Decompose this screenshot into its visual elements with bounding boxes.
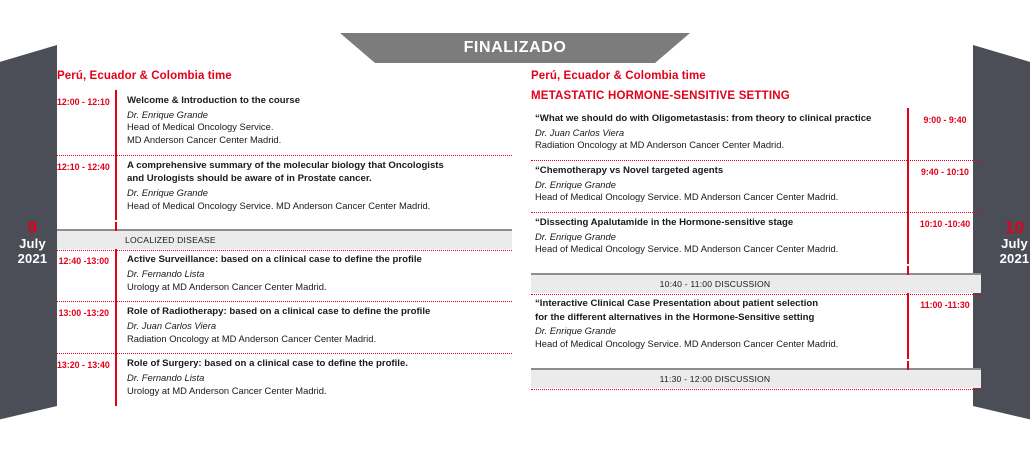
talk-title: Role of Radiotherapy: based on a clinica… [127,306,508,319]
schedule-row: “Dissecting Apalutamide in the Hormone-s… [531,212,981,264]
schedule-row-time: 12:00 - 12:10 [57,90,115,155]
status-banner: FINALIZADO [340,33,690,63]
schedule-row-time: 13:00 -13:20 [57,301,115,353]
schedule-row-content: Role of Radiotherapy: based on a clinica… [117,301,512,353]
talk-speaker: Dr. Juan Carlos Viera [535,127,899,140]
section-band: 11:30 - 12:00 DISCUSSION [531,368,981,388]
schedule-row-time: 9:40 - 10:10 [909,160,981,212]
agenda-page: 9 July 2021 10 July 2021 FINALIZADO Perú… [0,0,1030,450]
schedule-row-time: 12:10 - 12:40 [57,155,115,221]
schedule-row-content: “Dissecting Apalutamide in the Hormone-s… [531,212,907,264]
talk-speaker: Dr. Fernando Lista [127,268,508,281]
section-band: LOCALIZED DISEASE [57,229,512,249]
talk-speaker: Dr. Fernando Lista [127,372,508,385]
left-date-block: 9 July 2021 [0,0,57,450]
talk-affiliation: Urology at MD Anderson Cancer Center Mad… [127,281,508,294]
right-date-shape [973,0,1030,450]
schedule-row-content: “What we should do with Oligometastasis:… [531,108,907,160]
right-date-text: 10 July 2021 [987,218,1030,266]
talk-title: “What we should do with Oligometastasis:… [535,113,899,126]
day-1-schedule: 12:00 - 12:10Welcome & Introduction to t… [57,90,512,406]
status-banner-label: FINALIZADO [340,33,690,63]
talk-speaker: Dr. Enrique Grande [127,187,508,200]
schedule-row: “What we should do with Oligometastasis:… [531,108,981,160]
band-red-tick [907,361,909,370]
talk-title: Role of Surgery: based on a clinical cas… [127,358,508,371]
schedule-row: “Interactive Clinical Case Presentation … [531,293,981,359]
talk-title: “Interactive Clinical Case Presentation … [535,298,899,311]
talk-affiliation: Head of Medical Oncology Service. MD And… [127,200,508,213]
schedule-row-time: 9:00 - 9:40 [909,108,981,160]
right-date-month: July [987,237,1030,252]
day-2-schedule: “What we should do with Oligometastasis:… [531,108,981,388]
talk-speaker: Dr. Enrique Grande [535,231,899,244]
schedule-row: “Chemotherapy vs Novel targeted agentsDr… [531,160,981,212]
left-date-year: 2021 [5,252,60,267]
left-column-heading: Perú, Ecuador & Colombia time [57,70,512,82]
talk-affiliation: Radiation Oncology at MD Anderson Cancer… [535,139,899,152]
right-date-block: 10 July 2021 [973,0,1030,450]
schedule-row-content: Welcome & Introduction to the courseDr. … [117,90,512,155]
day-1-column: Perú, Ecuador & Colombia time 12:00 - 12… [57,70,512,406]
talk-affiliation: Radiation Oncology at MD Anderson Cancer… [127,333,508,346]
left-date-text: 9 July 2021 [5,218,60,266]
right-date-year: 2021 [987,252,1030,267]
schedule-row: 12:40 -13:00Active Surveillance: based o… [57,249,512,301]
section-band-label: 10:40 - 11:00 DISCUSSION [660,279,771,289]
schedule-row-content: “Interactive Clinical Case Presentation … [531,293,907,359]
right-date-day: 10 [987,218,1030,237]
left-date-day: 9 [5,218,60,237]
schedule-row-content: Active Surveillance: based on a clinical… [117,249,512,301]
schedule-row-time: 13:20 - 13:40 [57,353,115,405]
talk-title: for the different alternatives in the Ho… [535,312,899,325]
talk-affiliation: MD Anderson Cancer Center Madrid. [127,134,508,147]
schedule-row: 12:00 - 12:10Welcome & Introduction to t… [57,90,512,155]
talk-affiliation: Head of Medical Oncology Service. [127,121,508,134]
section-band-label: 11:30 - 12:00 DISCUSSION [660,374,771,384]
left-date-month: July [5,237,60,252]
talk-affiliation: Head of Medical Oncology Service. MD And… [535,191,899,204]
talk-title: “Chemotherapy vs Novel targeted agents [535,165,899,178]
section-band-label: LOCALIZED DISEASE [125,235,216,245]
band-spacer [531,359,981,366]
schedule-row: 12:10 - 12:40A comprehensive summary of … [57,155,512,221]
schedule-row: 13:20 - 13:40Role of Surgery: based on a… [57,353,512,405]
section-band: 10:40 - 11:00 DISCUSSION [531,273,981,293]
talk-speaker: Dr. Enrique Grande [535,325,899,338]
schedule-row: 13:00 -13:20Role of Radiotherapy: based … [57,301,512,353]
left-date-shape [0,0,57,450]
band-red-tick [115,222,117,231]
schedule-row-content: Role of Surgery: based on a clinical cas… [117,353,512,405]
schedule-row-content: A comprehensive summary of the molecular… [117,155,512,221]
talk-title: Active Surveillance: based on a clinical… [127,254,508,267]
schedule-row-time: 11:00 -11:30 [909,293,981,359]
talk-title: A comprehensive summary of the molecular… [127,160,508,173]
band-red-tick [907,266,909,275]
talk-title: “Dissecting Apalutamide in the Hormone-s… [535,217,899,230]
talk-affiliation: Head of Medical Oncology Service. MD And… [535,338,899,351]
band-spacer [57,220,512,227]
talk-speaker: Dr. Enrique Grande [535,179,899,192]
schedule-row-time: 12:40 -13:00 [57,249,115,301]
talk-speaker: Dr. Enrique Grande [127,109,508,122]
talk-title: and Urologists should be aware of in Pro… [127,173,508,186]
schedule-row-time: 10:10 -10:40 [909,212,981,264]
talk-affiliation: Urology at MD Anderson Cancer Center Mad… [127,385,508,398]
day-2-column: Perú, Ecuador & Colombia time METASTATIC… [531,70,981,388]
talk-title: Welcome & Introduction to the course [127,95,508,108]
band-spacer [531,264,981,271]
talk-affiliation: Head of Medical Oncology Service. MD And… [535,243,899,256]
schedule-row-content: “Chemotherapy vs Novel targeted agentsDr… [531,160,907,212]
right-column-heading: Perú, Ecuador & Colombia time [531,70,981,82]
talk-speaker: Dr. Juan Carlos Viera [127,320,508,333]
right-section-heading: METASTATIC HORMONE-SENSITIVE SETTING [531,90,981,102]
